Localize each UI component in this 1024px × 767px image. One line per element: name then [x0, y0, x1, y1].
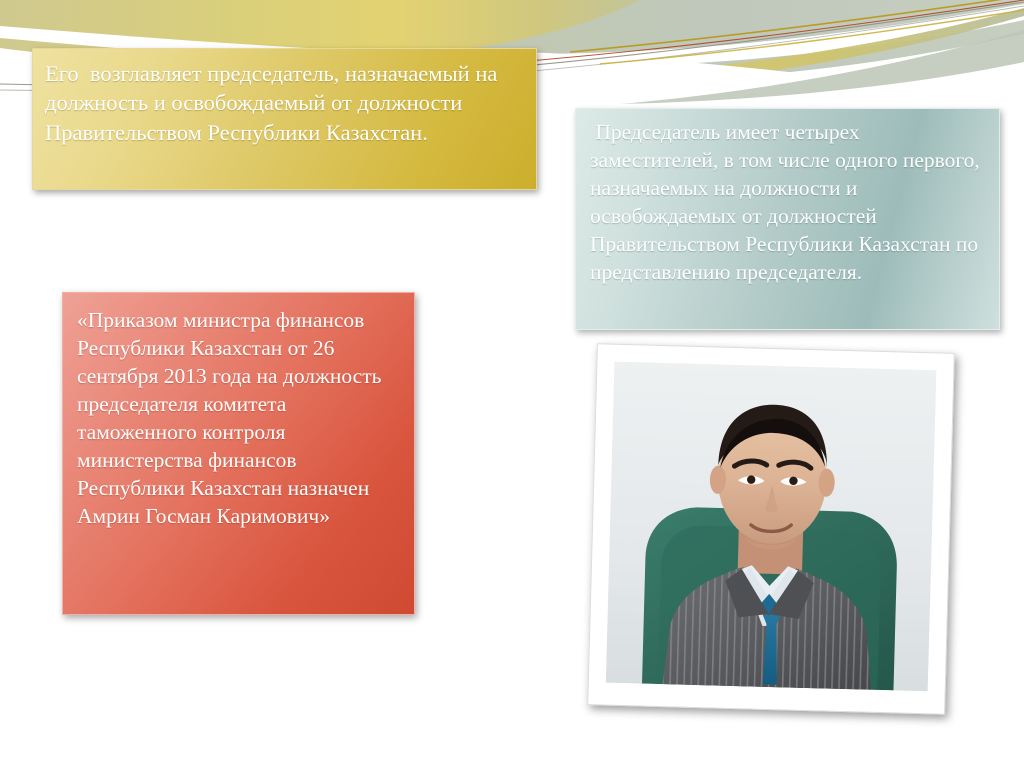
text-box-teal: Председатель имеет четырех заместителей,… [575, 108, 1000, 330]
portrait-photo-svg [606, 362, 937, 692]
slide-canvas: Его возглавляет председатель, назначаемы… [0, 0, 1024, 767]
swirl-line-gold-1 [570, 0, 1024, 52]
text-box-teal-text: Председатель имеет четырех заместителей,… [590, 119, 985, 287]
swirl-line-gold-2 [600, 10, 1024, 64]
portrait-photo [606, 362, 937, 692]
text-box-red-text: «Приказом министра финансов Республики К… [77, 307, 400, 531]
text-box-red: «Приказом министра финансов Республики К… [62, 292, 415, 615]
text-box-gold-text: Его возглавляет председатель, назначаемы… [45, 59, 520, 147]
swirl-tail-sage [620, 30, 1024, 104]
photo-frame [587, 343, 955, 715]
text-box-gold: Его возглавляет председатель, назначаемы… [32, 48, 537, 190]
